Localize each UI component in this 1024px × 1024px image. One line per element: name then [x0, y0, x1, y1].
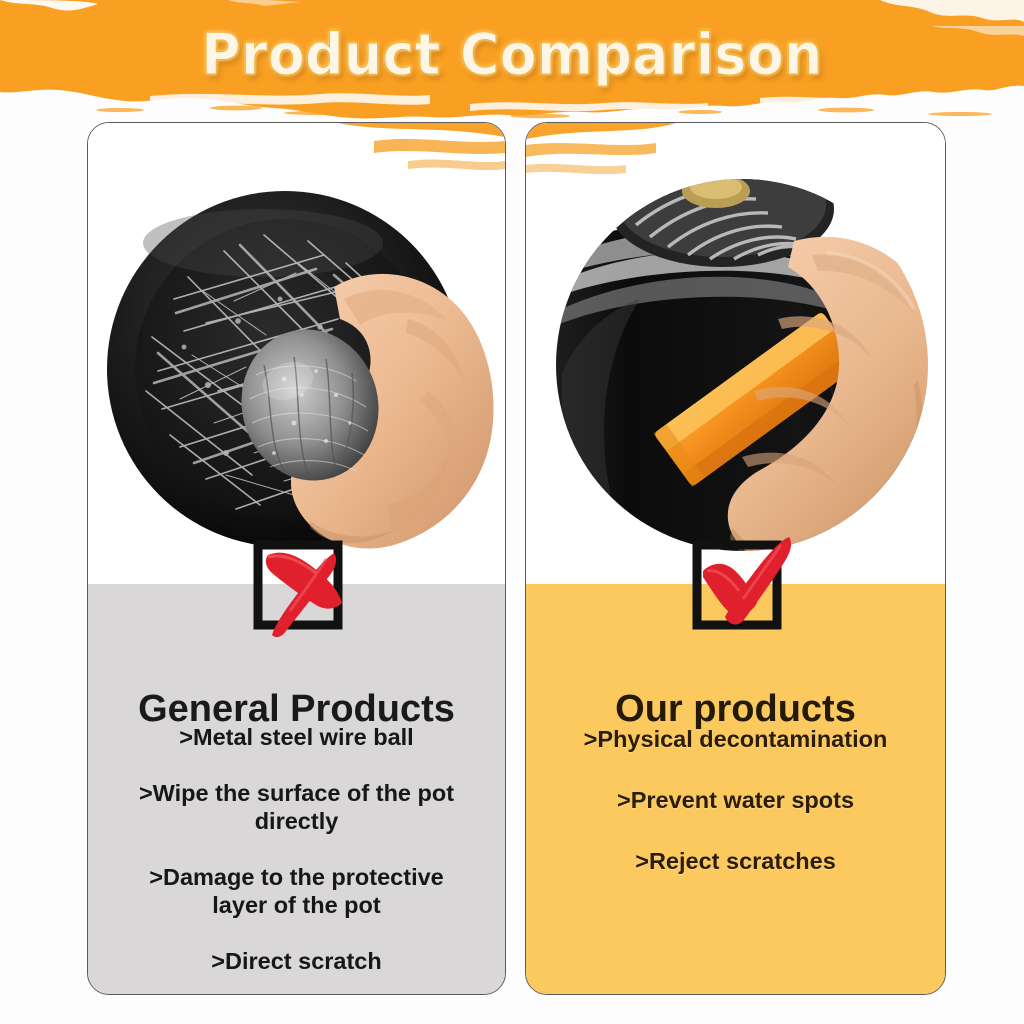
orange-cleaning-block-on-pot-photo	[526, 123, 945, 584]
page-title: Product Comparison	[31, 22, 994, 88]
comparison-column-general-products: General Products >Metal steel wire ball …	[87, 122, 506, 995]
list-item: >Physical decontamination	[532, 725, 939, 753]
column-heading-our-products: Our products	[526, 687, 945, 731]
list-item: >Damage to the protective layer of the p…	[94, 863, 499, 919]
feature-list-our-products: >Physical decontamination >Prevent water…	[532, 725, 939, 908]
check-mark-icon	[677, 531, 795, 643]
list-item: >Prevent water spots	[532, 786, 939, 814]
list-item: >Wipe the surface of the pot directly	[94, 779, 499, 835]
scratched-pan-with-steel-wool-photo	[88, 123, 505, 584]
header-banner: Product Comparison	[0, 0, 1024, 122]
feature-list-general-products: >Metal steel wire ball >Wipe the surface…	[94, 723, 499, 995]
list-item: >Direct scratch	[94, 947, 499, 975]
list-item: >Metal steel wire ball	[94, 723, 499, 751]
list-item: >Reject scratches	[532, 847, 939, 875]
cross-mark-icon	[238, 531, 356, 643]
comparison-column-our-products: Our products >Physical decontamination >…	[525, 122, 946, 995]
infographic-canvas: Product Comparison	[0, 0, 1024, 1024]
